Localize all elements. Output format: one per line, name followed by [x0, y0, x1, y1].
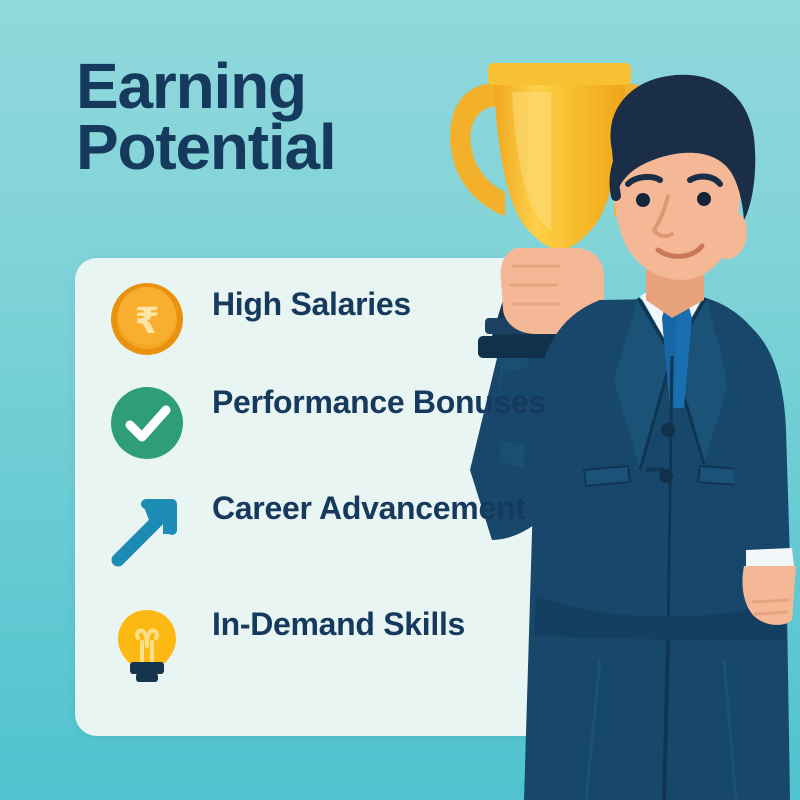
svg-text:₹: ₹: [134, 301, 159, 342]
benefit-item-performance-bonuses[interactable]: Performance Bonuses: [108, 384, 558, 462]
up-right-arrow-icon: [108, 490, 186, 568]
right-arm: [712, 320, 796, 625]
title-line-1: Earning: [76, 56, 496, 117]
benefit-label: High Salaries: [186, 280, 411, 324]
benefit-item-high-salaries[interactable]: ₹ High Salaries: [108, 280, 558, 358]
benefit-label: In-Demand Skills: [186, 606, 465, 644]
benefit-item-in-demand-skills[interactable]: In-Demand Skills: [108, 606, 558, 684]
benefit-label: Performance Bonuses: [186, 384, 546, 422]
rupee-coin-icon: ₹: [108, 280, 186, 358]
page-title: Earning Potential: [76, 56, 496, 179]
check-circle-icon: [108, 384, 186, 462]
benefits-list: ₹ High Salaries Performance Bonuses: [75, 258, 590, 736]
benefit-label: Career Advancement: [186, 490, 526, 528]
head: [610, 75, 755, 318]
lightbulb-icon: [108, 606, 186, 684]
benefit-item-career-advancement[interactable]: Career Advancement: [108, 490, 558, 568]
title-line-2: Potential: [76, 117, 496, 178]
infographic-poster: Earning Potential: [0, 0, 800, 800]
